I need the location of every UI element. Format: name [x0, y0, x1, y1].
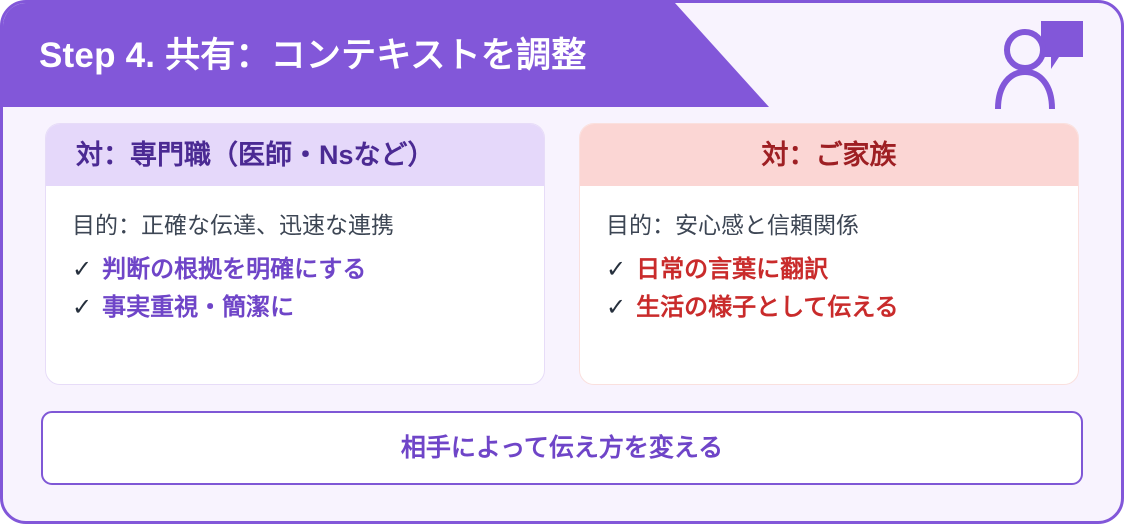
- check-icon: ✓: [72, 289, 92, 328]
- summary-text: 相手によって伝え方を変える: [401, 436, 723, 461]
- comparison-panels: 対：専門職（医師・Nsなど） 目的：正確な伝達、迅速な連携 ✓ 判断の根拠を明確…: [45, 123, 1079, 385]
- panel-family-heading: 対：ご家族: [580, 124, 1078, 186]
- list-item-label: 生活の様子として伝える: [636, 289, 899, 328]
- list-item-label: 事実重視・簡潔に: [102, 289, 294, 328]
- list-item: ✓ 判断の根拠を明確にする: [72, 251, 518, 290]
- check-icon: ✓: [72, 251, 92, 290]
- panel-professional-body: 目的：正確な伝達、迅速な連携 ✓ 判断の根拠を明確にする ✓ 事実重視・簡潔に: [46, 186, 544, 384]
- check-icon: ✓: [606, 251, 626, 290]
- page-title: Step 4. 共有：コンテキストを調整: [3, 38, 586, 73]
- check-icon: ✓: [606, 289, 626, 328]
- panel-professional-heading: 対：専門職（医師・Nsなど）: [46, 124, 544, 186]
- list-item: ✓ 事実重視・簡潔に: [72, 289, 518, 328]
- panel-professional: 対：専門職（医師・Nsなど） 目的：正確な伝達、迅速な連携 ✓ 判断の根拠を明確…: [45, 123, 545, 385]
- panel-family-body: 目的：安心感と信頼関係 ✓ 日常の言葉に翻訳 ✓ 生活の様子として伝える: [580, 186, 1078, 384]
- list-item: ✓ 日常の言葉に翻訳: [606, 251, 1052, 290]
- panel-family-purpose: 目的：安心感と信頼関係: [606, 208, 1052, 243]
- list-item-label: 日常の言葉に翻訳: [636, 251, 828, 290]
- list-item: ✓ 生活の様子として伝える: [606, 289, 1052, 328]
- summary-bar: 相手によって伝え方を変える: [41, 411, 1083, 485]
- panel-family: 対：ご家族 目的：安心感と信頼関係 ✓ 日常の言葉に翻訳 ✓ 生活の様子として伝…: [579, 123, 1079, 385]
- panel-professional-purpose: 目的：正確な伝達、迅速な連携: [72, 208, 518, 243]
- slide-card: Step 4. 共有：コンテキストを調整 対：専門職（医師・Nsなど） 目的：正…: [0, 0, 1124, 524]
- person-speech-bubble-icon: [993, 17, 1089, 109]
- list-item-label: 判断の根拠を明確にする: [102, 251, 366, 290]
- header-banner: Step 4. 共有：コンテキストを調整: [3, 3, 769, 107]
